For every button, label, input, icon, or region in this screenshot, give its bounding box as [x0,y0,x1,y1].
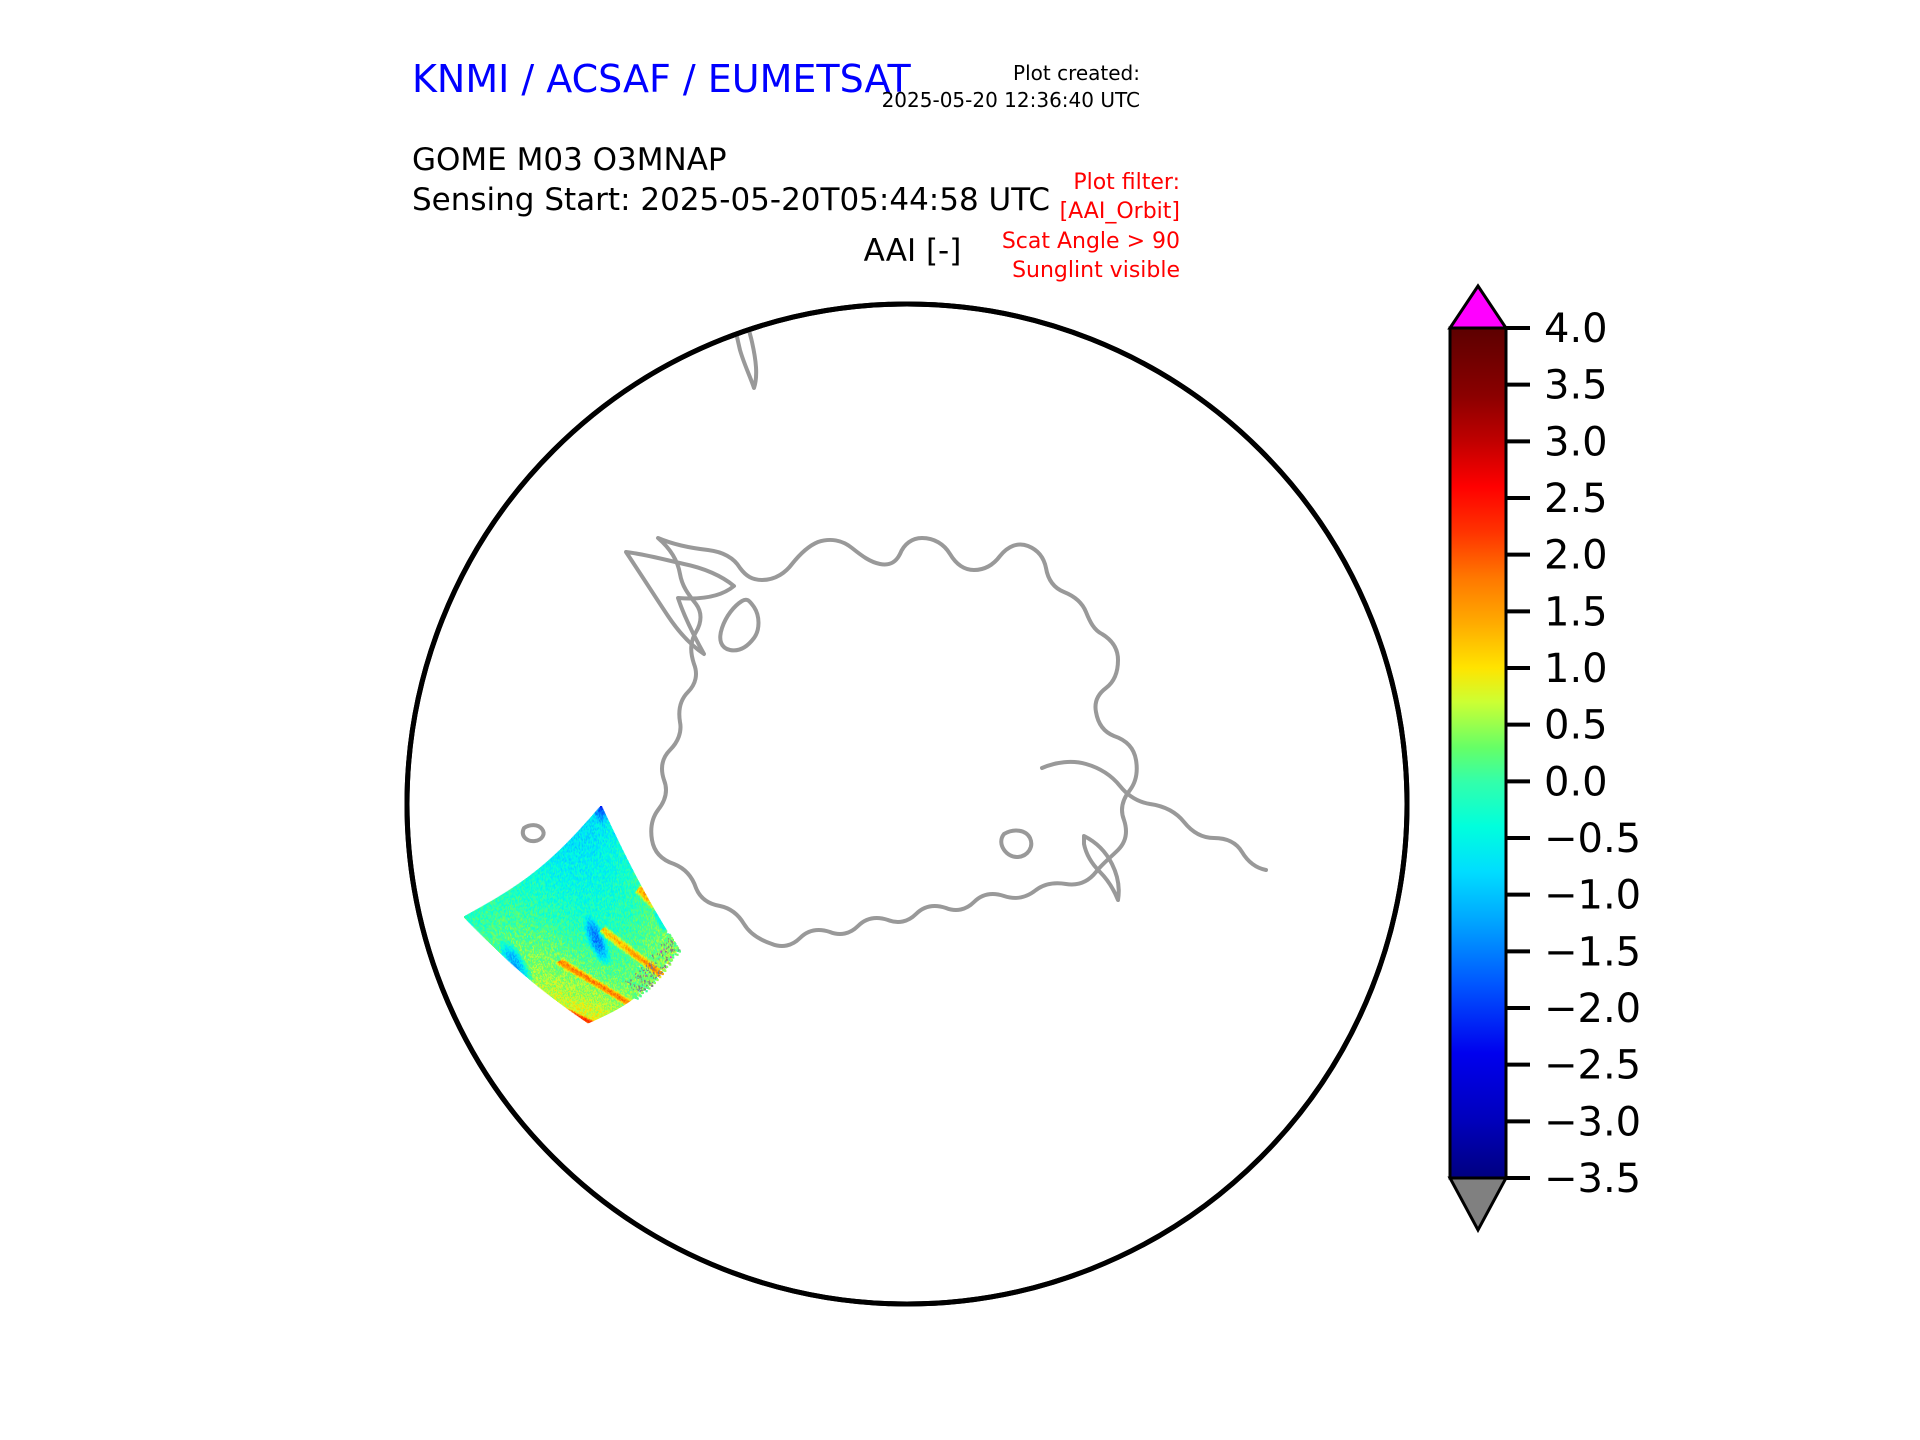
plot-filter-line: Plot filter: [1002,168,1180,197]
patagonia-coast [691,276,720,328]
polar-map-svg [404,276,1434,1336]
variable-title-text: AAI [-] [864,233,962,269]
plot-created-block: Plot created: 2025-05-20 12:36:40 UTC [882,60,1140,114]
map-outer-circle [407,304,1407,1304]
brand-title: KNMI / ACSAF / EUMETSAT [412,57,911,101]
plot-created-label: Plot created: [882,60,1140,87]
plot-filter-line: Scat Angle > 90 [1002,227,1180,256]
polar-map-panel [404,276,1434,1336]
plot-created-time: 2025-05-20 12:36:40 UTC [882,87,1140,114]
plot-filter-block: Plot filter: [AAI_Orbit] Scat Angle > 90… [1002,168,1180,285]
product-title: GOME M03 O3MNAP [412,140,1050,180]
plot-filter-line: [AAI_Orbit] [1002,197,1180,226]
product-title-block: GOME M03 O3MNAP Sensing Start: 2025-05-2… [412,140,1050,221]
sensing-start-title: Sensing Start: 2025-05-20T05:44:58 UTC [412,180,1050,220]
variable-title: AAI [-] [0,233,1920,269]
small-island-north [597,363,627,390]
